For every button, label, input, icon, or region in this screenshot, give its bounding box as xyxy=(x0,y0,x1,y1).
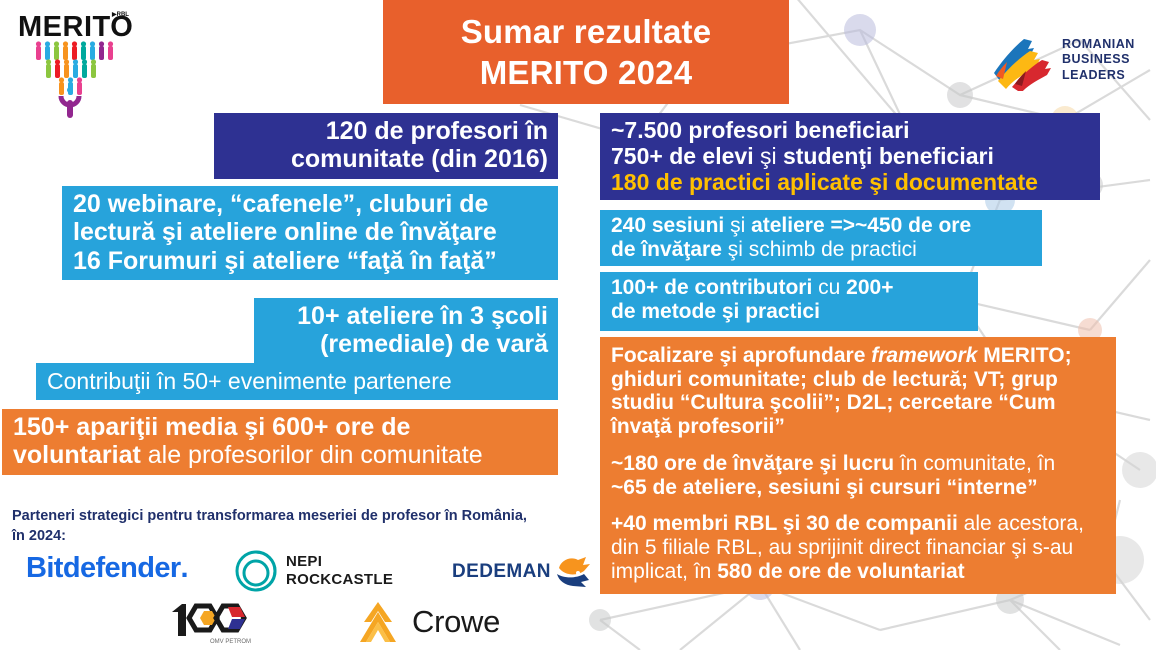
merito-logo-rbl-tag: ▶RBL xyxy=(111,11,129,18)
page-title-line2: MERITO 2024 xyxy=(480,52,693,93)
page-title-line1: Sumar rezultate xyxy=(461,11,712,52)
text-run: studiu “Cultura şcolii”; D2L; cercetare … xyxy=(611,391,1056,414)
omv-petrom-sublabel: OMV PETROM xyxy=(210,639,251,645)
partner-logo-bitdefender: Bitdefender . xyxy=(26,552,189,585)
stat-line: 120 de profesori în xyxy=(225,117,548,145)
stat-line: 100+ de contributori cu 200+ xyxy=(611,276,968,300)
stat-line: ghiduri comunitate; club de lectură; VT;… xyxy=(611,368,1106,392)
text-run: ateliere =>~450 de ore xyxy=(751,214,971,237)
stat-line: Contribuţii în 50+ evenimente partenere xyxy=(47,368,548,394)
text-run: de metode şi practici xyxy=(611,300,820,323)
stat-line: ~7.500 profesori beneficiari xyxy=(611,117,1090,143)
stat-block-summer-schools: 10+ ateliere în 3 şcoli(remediale) de va… xyxy=(254,298,558,364)
partners-caption-line1: Parteneri strategici pentru transformare… xyxy=(12,506,582,526)
text-run: (remediale) de vară xyxy=(320,330,548,358)
text-run: de învăţare xyxy=(611,238,728,261)
omv-petrom-100-icon: OMV PETROM xyxy=(166,598,258,646)
stat-line: comunitate (din 2016) xyxy=(225,145,548,173)
merito-logo: MERITO ▶RBL xyxy=(14,6,144,118)
stat-block-webinars: 20 webinare, “cafenele”, cluburi delectu… xyxy=(62,186,558,280)
text-run: ale acestora, xyxy=(964,512,1084,535)
rbl-word-line3: LEADERS xyxy=(1062,68,1135,84)
text-run: MERITO; xyxy=(977,344,1071,367)
text-run: voluntariat xyxy=(13,441,148,469)
stat-block-partner-events: Contribuţii în 50+ evenimente partenere xyxy=(36,363,558,400)
stat-paragraph: Focalizare şi aprofundare framework MERI… xyxy=(611,344,1106,439)
nepi-word-line1: NEPI xyxy=(286,553,393,571)
stat-line: ~180 ore de învăţare şi lucru în comunit… xyxy=(611,452,1106,476)
text-run: 200+ xyxy=(846,276,893,299)
text-run: învaţă profesorii” xyxy=(611,415,785,438)
stat-line: 10+ ateliere în 3 şcoli xyxy=(265,302,548,330)
stat-line: ~65 de ateliere, sesiuni şi cursuri “int… xyxy=(611,476,1106,500)
partner-logo-crowe: Crowe xyxy=(352,600,500,644)
stat-line: 150+ apariţii media şi 600+ ore de xyxy=(13,413,548,441)
romanian-business-leaders-logo: ROMANIAN BUSINESS LEADERS xyxy=(988,22,1148,98)
text-run: cu xyxy=(818,276,846,299)
partner-logo-nepi-rockcastle: NEPI ROCKCASTLE xyxy=(234,548,393,594)
text-run: Contribuţii în 50+ evenimente partenere xyxy=(47,368,452,394)
stat-line: +40 membri RBL şi 30 de companii ale ace… xyxy=(611,512,1106,536)
stat-line: 16 Forumuri şi ateliere “faţă în faţă” xyxy=(73,247,548,275)
nepi-word-line2: ROCKCASTLE xyxy=(286,571,393,589)
stat-line: din 5 filiale RBL, au sprijinit direct f… xyxy=(611,536,1106,560)
stat-line: 180 de practici aplicate şi documentate xyxy=(611,169,1090,195)
bitdefender-dot-icon: . xyxy=(181,552,189,585)
stat-paragraph: +40 membri RBL şi 30 de companii ale ace… xyxy=(611,512,1106,583)
stat-block-media-volunteering: 150+ apariţii media şi 600+ ore devolunt… xyxy=(2,409,558,475)
stat-block-sessions-hours: 240 sesiuni şi ateliere =>~450 de orede … xyxy=(600,210,1042,266)
rbl-word-line1: ROMANIAN xyxy=(1062,37,1135,53)
partners-caption: Parteneri strategici pentru transformare… xyxy=(12,506,582,546)
stat-block-teachers-community: 120 de profesori încomunitate (din 2016) xyxy=(214,113,558,179)
stat-line: 20 webinare, “cafenele”, cluburi de xyxy=(73,190,548,218)
nepi-wordmark: NEPI ROCKCASTLE xyxy=(286,553,393,589)
text-run: framework xyxy=(871,344,977,367)
text-run: 580 de ore de voluntariat xyxy=(717,560,964,583)
stat-line: 750+ de elevi şi studenţi beneficiari xyxy=(611,143,1090,169)
text-run: ghiduri comunitate; club de lectură; VT;… xyxy=(611,368,1058,391)
rbl-word-line2: BUSINESS xyxy=(1062,52,1135,68)
text-run: lectură şi ateliere online de învăţare xyxy=(73,218,497,246)
stat-line: studiu “Cultura şcolii”; D2L; cercetare … xyxy=(611,391,1106,415)
text-run: 16 Forumuri şi ateliere “faţă în faţă” xyxy=(73,247,497,275)
text-run: Focalizare şi aprofundare xyxy=(611,344,871,367)
infographic-canvas: MERITO ▶RBL xyxy=(0,0,1156,650)
merito-logo-people xyxy=(36,41,113,118)
stat-line: voluntariat ale profesorilor din comunit… xyxy=(13,441,548,469)
partner-logo-dedeman: DEDEMAN xyxy=(452,554,593,590)
text-run: studenţi beneficiari xyxy=(783,143,994,169)
text-run: ~7.500 profesori beneficiari xyxy=(611,117,910,143)
stat-block-contributors: 100+ de contributori cu 200+de metode şi… xyxy=(600,272,978,331)
text-run: şi xyxy=(760,143,783,169)
page-title: Sumar rezultate MERITO 2024 xyxy=(383,0,789,104)
partner-logo-omv-petrom-100: OMV PETROM xyxy=(166,598,258,646)
text-run: 240 sesiuni xyxy=(611,214,730,237)
stat-block-beneficiaries: ~7.500 profesori beneficiari750+ de elev… xyxy=(600,113,1100,200)
text-run: 100+ de contributori xyxy=(611,276,818,299)
text-run: şi xyxy=(730,214,751,237)
dedeman-worker-icon xyxy=(553,554,593,590)
stat-line: lectură şi ateliere online de învăţare xyxy=(73,218,548,246)
text-run: 20 webinare, “cafenele”, cluburi de xyxy=(73,190,488,218)
crowe-mark-icon xyxy=(352,600,404,644)
stat-line: învaţă profesorii” xyxy=(611,415,1106,439)
dedeman-wordmark: DEDEMAN xyxy=(452,561,551,583)
partners-caption-line2: în 2024: xyxy=(12,526,582,546)
stat-line: (remediale) de vară xyxy=(265,330,548,358)
text-run: 10+ ateliere în 3 şcoli xyxy=(297,302,548,330)
text-run: ~180 ore de învăţare şi lucru xyxy=(611,452,900,475)
text-run: în comunitate, în xyxy=(900,452,1055,475)
nepi-ring-icon xyxy=(234,548,278,594)
partner-logo-row-2: OMV PETROM Crowe xyxy=(152,598,572,646)
partner-logo-row-1: Bitdefender . NEPI ROCKCASTLE DEDEMAN xyxy=(12,548,587,596)
stat-line: 240 sesiuni şi ateliere =>~450 de ore xyxy=(611,214,1032,238)
text-run: şi schimb de practici xyxy=(728,238,917,261)
crowe-wordmark: Crowe xyxy=(412,604,500,640)
text-run: implicat, în xyxy=(611,560,717,583)
stat-paragraph: ~180 ore de învăţare şi lucru în comunit… xyxy=(611,452,1106,499)
text-run: 150+ apariţii media şi 600+ ore de xyxy=(13,413,410,441)
text-run: 750+ de elevi xyxy=(611,143,760,169)
rbl-mark-icon xyxy=(988,29,1054,91)
stat-block-framework-details: Focalizare şi aprofundare framework MERI… xyxy=(600,337,1116,594)
rbl-wordmark: ROMANIAN BUSINESS LEADERS xyxy=(1062,37,1135,84)
stat-line: de metode şi practici xyxy=(611,300,968,324)
text-run: ale profesorilor din comunitate xyxy=(148,441,483,469)
text-run: comunitate (din 2016) xyxy=(291,145,548,173)
stat-line: de învăţare şi schimb de practici xyxy=(611,238,1032,262)
partners-section: Parteneri strategici pentru transformare… xyxy=(12,506,592,646)
text-run: ~65 de ateliere, sesiuni şi cursuri “int… xyxy=(611,476,1038,499)
text-run: 120 de profesori în xyxy=(326,117,548,145)
text-run: din 5 filiale RBL, au sprijinit direct f… xyxy=(611,536,1073,559)
stat-line: Focalizare şi aprofundare framework MERI… xyxy=(611,344,1106,368)
stat-line: implicat, în 580 de ore de voluntariat xyxy=(611,560,1106,584)
text-run: +40 membri RBL şi 30 de companii xyxy=(611,512,964,535)
text-run: 180 de practici aplicate şi documentate xyxy=(611,169,1038,195)
bitdefender-wordmark: Bitdefender xyxy=(26,552,181,585)
